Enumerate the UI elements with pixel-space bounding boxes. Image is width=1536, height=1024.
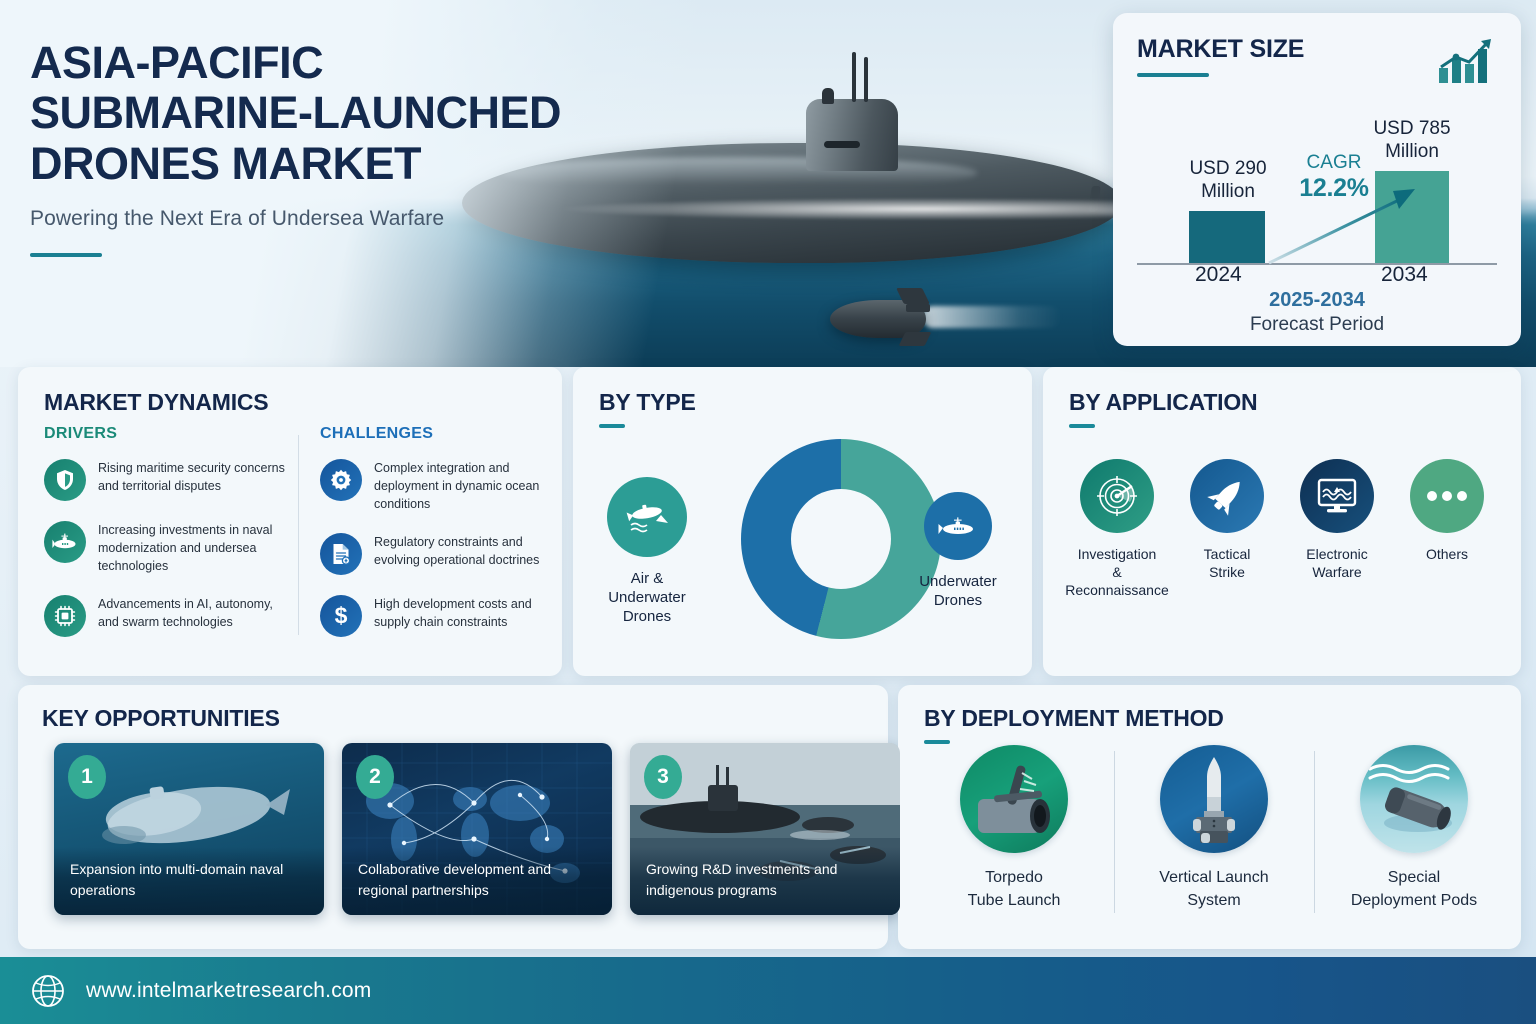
page-subtitle: Powering the Next Era of Undersea Warfar… bbox=[30, 207, 730, 231]
shield-icon bbox=[44, 459, 86, 501]
deployment-item-vertical-launch: Vertical Launch System bbox=[1134, 745, 1294, 912]
submarine-mast-icon bbox=[864, 57, 868, 102]
list-item: Regulatory constraints and evolving oper… bbox=[320, 533, 544, 575]
globe-icon bbox=[28, 971, 68, 1011]
dollar-icon: $ bbox=[320, 595, 362, 637]
challenge-text: Regulatory constraints and evolving oper… bbox=[374, 533, 544, 570]
title-line-2: SUBMARINE-LAUNCHED bbox=[30, 88, 730, 138]
dynamics-columns: DRIVERS Rising maritime security concern… bbox=[44, 425, 544, 657]
by-type-underline bbox=[599, 424, 625, 428]
challenges-list: Complex integration and deployment in dy… bbox=[320, 459, 544, 637]
deployment-items: Torpedo Tube Launch Ve bbox=[934, 745, 1494, 913]
by-type-title: BY TYPE bbox=[599, 389, 1006, 416]
challenge-text: Complex integration and deployment in dy… bbox=[374, 459, 544, 513]
list-item: Rising maritime security concerns and te… bbox=[44, 459, 294, 501]
drivers-heading: DRIVERS bbox=[44, 425, 294, 443]
opportunity-caption-3: Growing R&D investments and indigenous p… bbox=[630, 847, 900, 915]
submarine-icon bbox=[44, 521, 86, 563]
label-line-2: Warfare bbox=[1285, 563, 1389, 581]
deployment-label-pods: Special Deployment Pods bbox=[1334, 867, 1494, 912]
driver-text: Rising maritime security concerns and te… bbox=[98, 459, 294, 496]
label-line-2: & Reconnaissance bbox=[1065, 563, 1169, 599]
radar-icon bbox=[1080, 459, 1154, 533]
drivers-list: Rising maritime security concerns and te… bbox=[44, 459, 294, 637]
opportunity-cards: 1 Expansion into multi-domain naval oper… bbox=[54, 743, 900, 915]
x-tick-2034: 2034 bbox=[1381, 263, 1428, 287]
by-application-card: BY APPLICATION Investigation & Reconnais… bbox=[1043, 367, 1521, 676]
missile-icon bbox=[1190, 459, 1264, 533]
deployment-divider bbox=[1314, 751, 1315, 913]
value-label-2024: USD 290 Million bbox=[1165, 158, 1291, 203]
application-item-tactical-strike: Tactical Strike bbox=[1175, 459, 1279, 600]
application-item-investigation: Investigation & Reconnaissance bbox=[1065, 459, 1169, 600]
label-line-1: Underwater bbox=[903, 572, 1013, 591]
air-underwater-drone-icon bbox=[607, 477, 687, 557]
by-type-legend-underwater: Underwater Drones bbox=[903, 492, 1013, 610]
value-2024-line2: Million bbox=[1165, 181, 1291, 203]
title-line-1: ASIA-PACIFIC bbox=[30, 38, 730, 88]
market-size-plot: USD 290 Million USD 785 Million CAGR 12.… bbox=[1137, 105, 1497, 265]
by-deployment-card: BY DEPLOYMENT METHOD Torpedo Tube Launch bbox=[898, 685, 1521, 949]
opportunity-number-2: 2 bbox=[356, 755, 394, 799]
cagr-label: CAGR bbox=[1287, 152, 1381, 174]
application-label-investigation: Investigation & Reconnaissance bbox=[1065, 545, 1169, 600]
label-line-1: Torpedo bbox=[934, 867, 1094, 890]
title-line-3: DRONES MARKET bbox=[30, 139, 730, 189]
key-opportunities-card: KEY OPPORTUNITIES 1 Expansion into multi… bbox=[18, 685, 888, 949]
footer-url[interactable]: www.intelmarketresearch.com bbox=[86, 979, 372, 1003]
footer-bar: www.intelmarketresearch.com bbox=[0, 957, 1536, 1024]
key-opportunities-title: KEY OPPORTUNITIES bbox=[42, 705, 864, 732]
label-line-2: Tube Launch bbox=[934, 890, 1094, 913]
microchip-icon bbox=[44, 595, 86, 637]
label-line-1: Special bbox=[1334, 867, 1494, 890]
drone-wake-trail bbox=[922, 306, 1062, 328]
drivers-column: DRIVERS Rising maritime security concern… bbox=[44, 425, 294, 657]
opportunity-card-2[interactable]: 2 Collaborative development and regional… bbox=[342, 743, 612, 915]
bar-chart-uptrend-icon bbox=[1437, 35, 1499, 85]
monitor-waveform-icon bbox=[1300, 459, 1374, 533]
forecast-years: 2025-2034 bbox=[1137, 287, 1497, 313]
torpedo-tube-icon bbox=[960, 745, 1068, 853]
title-block: ASIA-PACIFIC SUBMARINE-LAUNCHED DRONES M… bbox=[30, 38, 730, 257]
donut-hole bbox=[791, 489, 891, 589]
label-line-2: System bbox=[1134, 890, 1294, 913]
label-line-1: Vertical Launch bbox=[1134, 867, 1294, 890]
application-label-others: Others bbox=[1395, 545, 1499, 563]
deployment-pod-icon bbox=[1360, 745, 1468, 853]
by-application-underline bbox=[1069, 424, 1095, 428]
deployment-item-torpedo: Torpedo Tube Launch bbox=[934, 745, 1094, 912]
document-icon bbox=[320, 533, 362, 575]
driver-text: Increasing investments in naval moderniz… bbox=[98, 521, 294, 575]
drone-fin-icon bbox=[906, 304, 930, 312]
cagr-value: 12.2% bbox=[1287, 174, 1381, 203]
forecast-label: Forecast Period bbox=[1137, 313, 1497, 338]
challenges-column: CHALLENGES Complex integration and deplo… bbox=[294, 425, 544, 657]
by-type-legend-air-underwater: Air & Underwater Drones bbox=[601, 477, 693, 627]
label-line-3: Drones bbox=[601, 607, 693, 626]
list-item: Increasing investments in naval moderniz… bbox=[44, 521, 294, 575]
label-line-2: Deployment Pods bbox=[1334, 890, 1494, 913]
opportunity-number-3: 3 bbox=[644, 755, 682, 799]
application-items: Investigation & Reconnaissance Tactical … bbox=[1065, 459, 1499, 600]
vertical-launch-icon bbox=[1160, 745, 1268, 853]
value-2024-line1: USD 290 bbox=[1165, 158, 1291, 180]
list-item: $ High development costs and supply chai… bbox=[320, 595, 544, 637]
title-underline bbox=[30, 253, 102, 257]
crew-figure-illustration bbox=[822, 88, 834, 104]
label-line-2: Underwater bbox=[601, 588, 693, 607]
gear-icon bbox=[320, 459, 362, 501]
forecast-period-block: 2025-2034 Forecast Period bbox=[1137, 287, 1497, 338]
label-line-2: Drones bbox=[903, 591, 1013, 610]
label-line-2: Strike bbox=[1175, 563, 1279, 581]
x-tick-2024: 2024 bbox=[1195, 263, 1242, 287]
opportunity-caption-2: Collaborative development and regional p… bbox=[342, 847, 612, 915]
driver-text: Advancements in AI, autonomy, and swarm … bbox=[98, 595, 294, 632]
opportunity-caption-1: Expansion into multi-domain naval operat… bbox=[54, 847, 324, 915]
by-deployment-title: BY DEPLOYMENT METHOD bbox=[924, 705, 1495, 732]
application-label-electronic-warfare: Electronic Warfare bbox=[1285, 545, 1389, 581]
application-item-others: Others bbox=[1395, 459, 1499, 600]
by-type-label-underwater: Underwater Drones bbox=[903, 572, 1013, 610]
label-line-1: Electronic bbox=[1285, 545, 1389, 563]
label-line-1: Tactical bbox=[1175, 545, 1279, 563]
by-application-title: BY APPLICATION bbox=[1069, 389, 1495, 416]
opportunity-card-1[interactable]: 1 Expansion into multi-domain naval oper… bbox=[54, 743, 324, 915]
label-line-1: Investigation bbox=[1065, 545, 1169, 563]
by-deployment-underline bbox=[924, 740, 950, 744]
value-2034-line1: USD 785 bbox=[1349, 118, 1475, 140]
ellipsis-icon bbox=[1410, 459, 1484, 533]
label-line-1: Others bbox=[1395, 545, 1499, 563]
application-label-tactical-strike: Tactical Strike bbox=[1175, 545, 1279, 581]
deployment-label-torpedo: Torpedo Tube Launch bbox=[934, 867, 1094, 912]
bar-2024 bbox=[1189, 211, 1265, 263]
opportunity-card-3[interactable]: 3 Growing R&D investments and indigenous… bbox=[630, 743, 900, 915]
application-item-electronic-warfare: Electronic Warfare bbox=[1285, 459, 1389, 600]
page-title: ASIA-PACIFIC SUBMARINE-LAUNCHED DRONES M… bbox=[30, 38, 730, 189]
cagr-annotation: CAGR 12.2% bbox=[1287, 152, 1381, 203]
deployment-item-pods: Special Deployment Pods bbox=[1334, 745, 1494, 912]
opportunity-number-1: 1 bbox=[68, 755, 106, 799]
market-size-card: MARKET SIZE USD 290 Million bbox=[1113, 13, 1521, 346]
submarine-mast-icon bbox=[852, 52, 856, 102]
list-item: Complex integration and deployment in dy… bbox=[320, 459, 544, 513]
svg-text:$: $ bbox=[335, 603, 348, 629]
challenges-heading: CHALLENGES bbox=[320, 425, 544, 443]
underwater-drone-icon bbox=[924, 492, 992, 560]
market-dynamics-title: MARKET DYNAMICS bbox=[44, 389, 536, 416]
deployment-label-vertical-launch: Vertical Launch System bbox=[1134, 867, 1294, 912]
deployment-divider bbox=[1114, 751, 1115, 913]
market-dynamics-card: MARKET DYNAMICS DRIVERS Rising maritime … bbox=[18, 367, 562, 676]
by-type-card: BY TYPE Air & Underwater Drones bbox=[573, 367, 1032, 676]
label-line-1: Air & bbox=[601, 569, 693, 588]
market-size-underline bbox=[1137, 73, 1209, 77]
challenge-text: High development costs and supply chain … bbox=[374, 595, 544, 632]
list-item: Advancements in AI, autonomy, and swarm … bbox=[44, 595, 294, 637]
by-type-label-air-underwater: Air & Underwater Drones bbox=[601, 569, 693, 627]
